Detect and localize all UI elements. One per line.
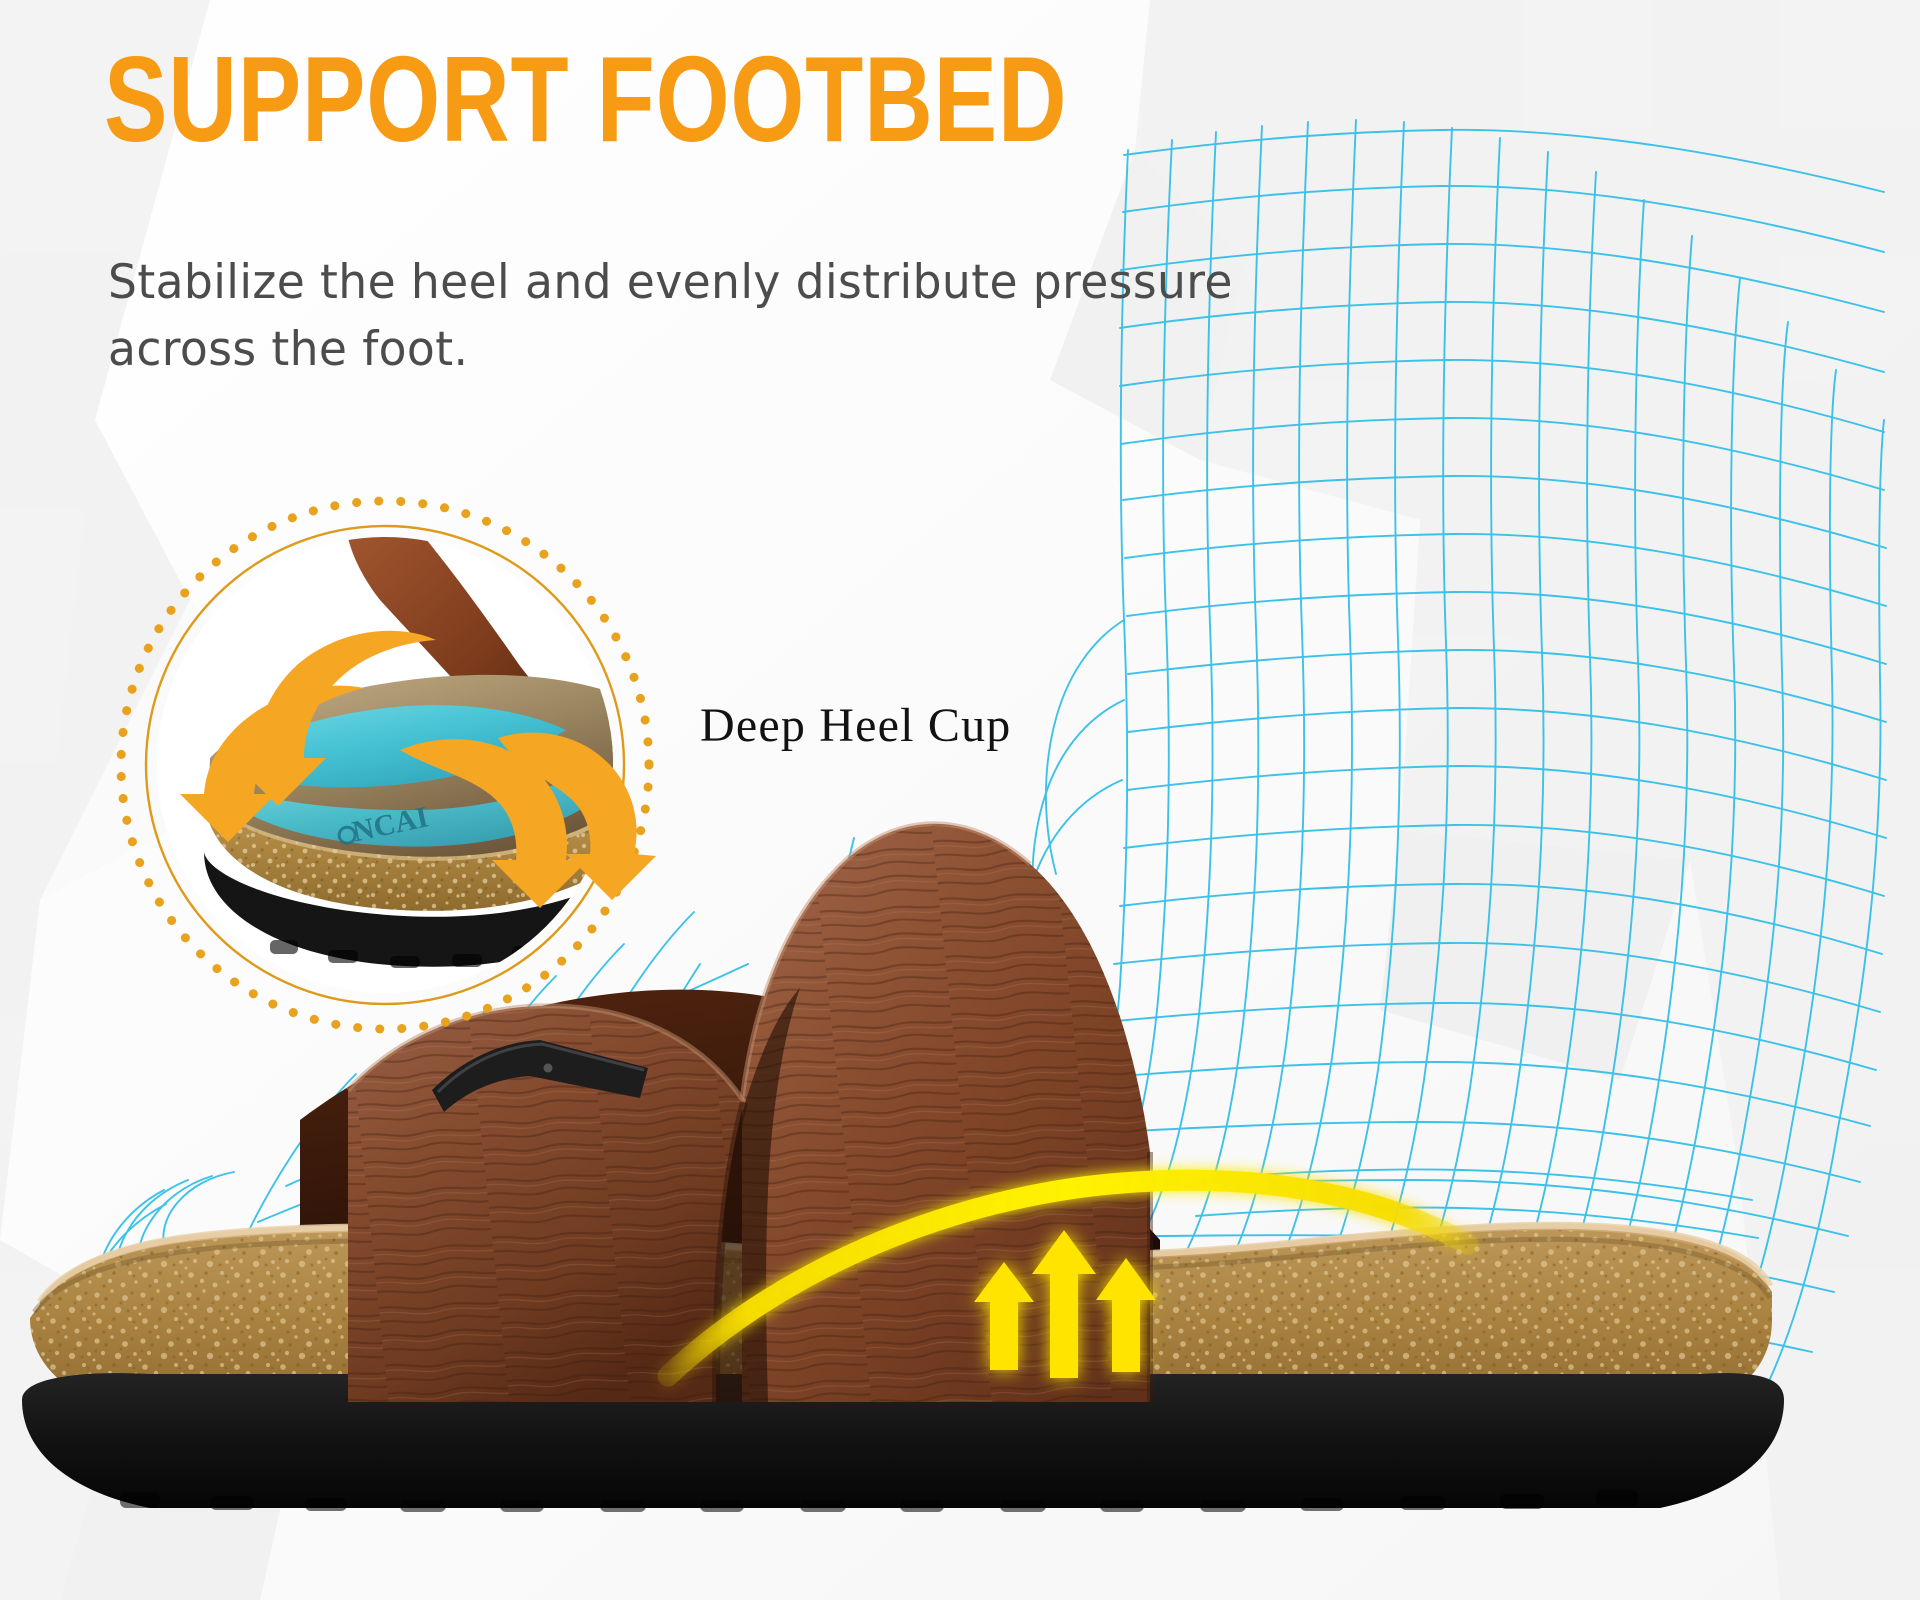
pressure-arrow-center (1032, 1230, 1096, 1378)
pressure-arrow-left (974, 1262, 1034, 1370)
product-feature-banner: NCAI (0, 0, 1920, 1600)
deep-heel-cup-inset: NCAI (100, 480, 670, 1050)
deep-heel-cup-label: Deep Heel Cup (700, 698, 1012, 753)
arch-pressure-arrows (974, 1230, 1156, 1378)
page-subtitle: Stabilize the heel and evenly distribute… (108, 250, 1350, 383)
page-title: SUPPORT FOOTBED (104, 38, 1067, 160)
pressure-arrow-right (1096, 1258, 1156, 1372)
